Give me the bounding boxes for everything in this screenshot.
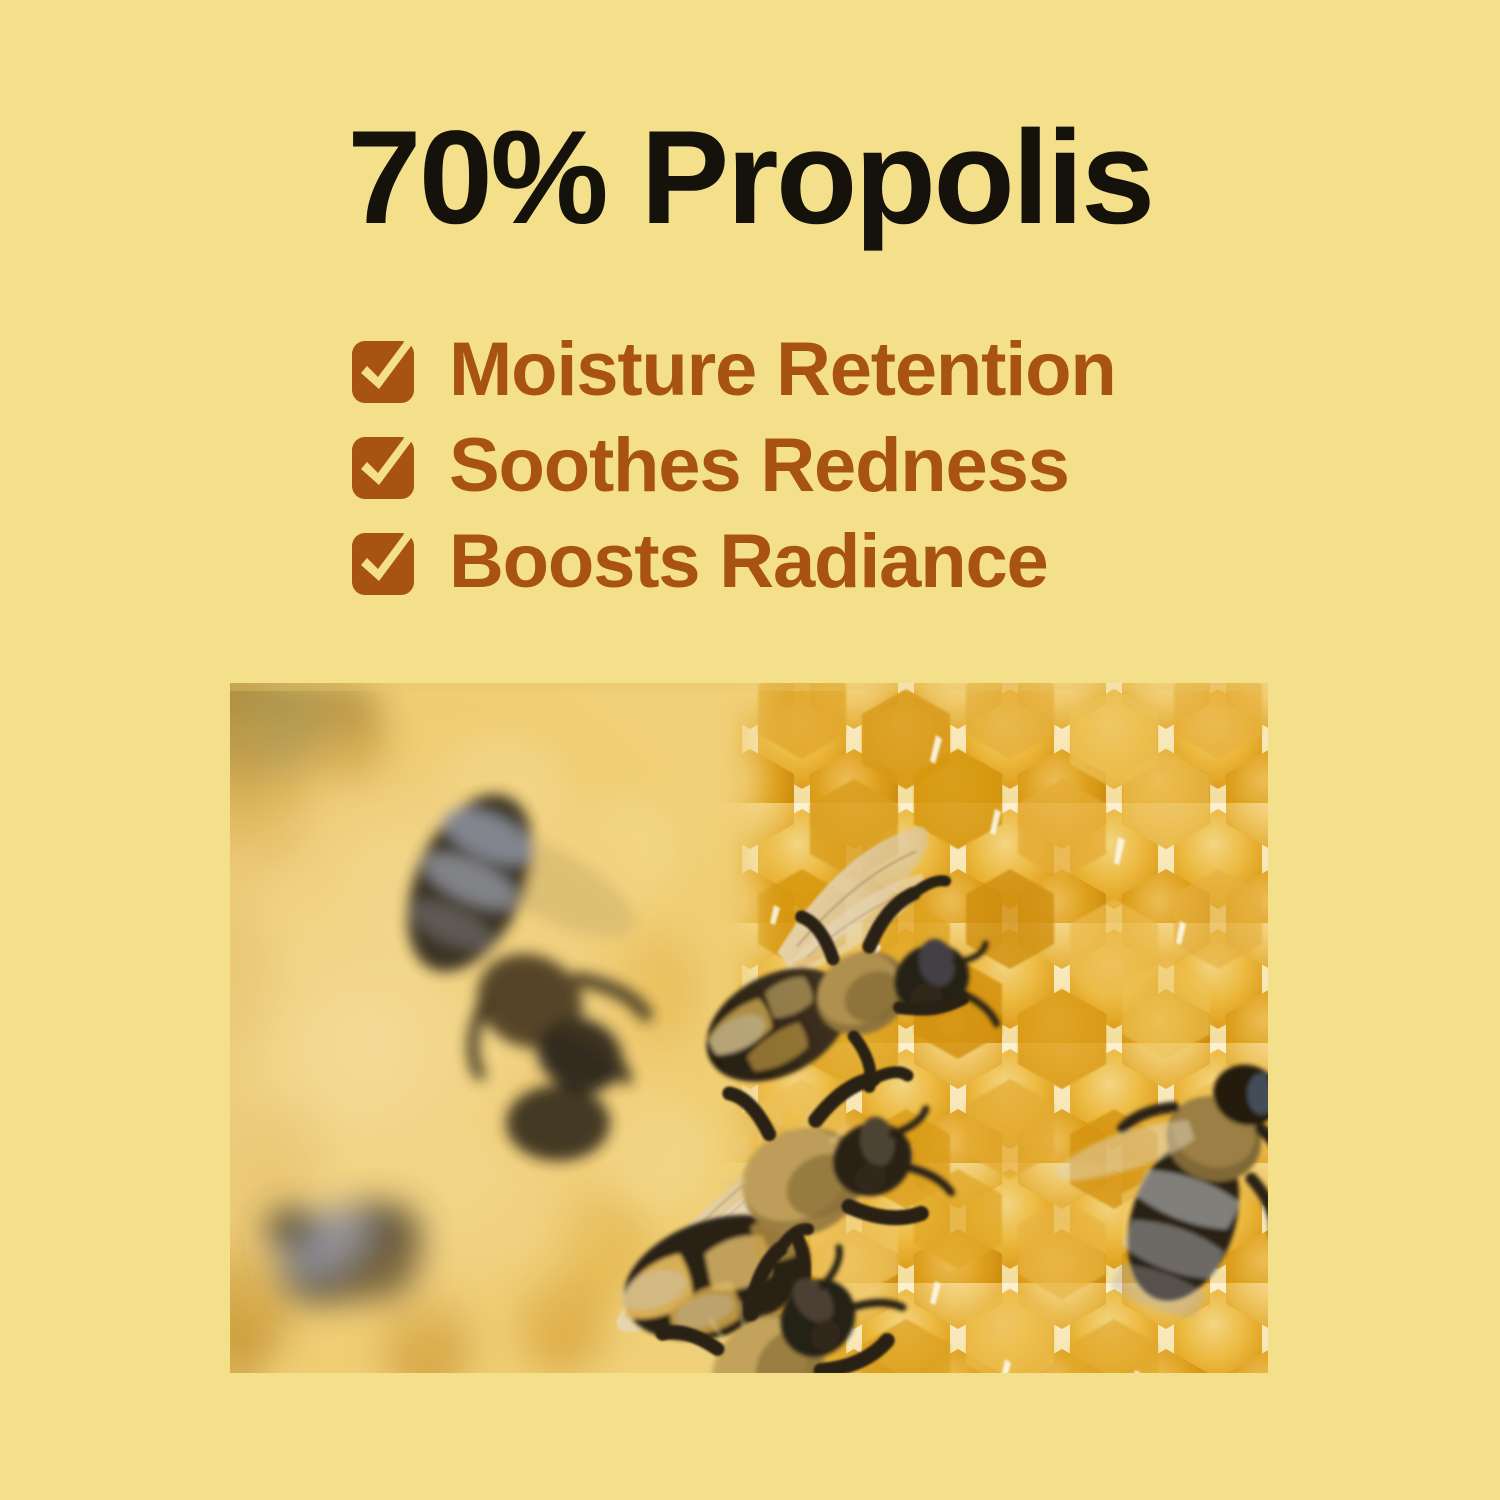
benefit-label: Moisture Retention (449, 332, 1116, 408)
benefit-item-boosts-radiance: Boosts Radiance (352, 514, 1352, 610)
page-title: 70% Propolis (0, 112, 1500, 245)
check-square-icon (352, 529, 418, 595)
benefit-item-moisture-retention: Moisture Retention (352, 322, 1352, 418)
check-square-icon (352, 433, 418, 499)
propolis-benefits-infographic: 70% Propolis Moisture Retention Soothes … (0, 0, 1500, 1500)
honeycomb-photo (230, 683, 1268, 1373)
benefit-label: Boosts Radiance (449, 524, 1048, 600)
benefit-item-soothes-redness: Soothes Redness (352, 418, 1352, 514)
benefit-list: Moisture Retention Soothes Redness Boost… (352, 322, 1352, 610)
check-square-icon (352, 337, 418, 403)
benefit-label: Soothes Redness (449, 428, 1069, 504)
